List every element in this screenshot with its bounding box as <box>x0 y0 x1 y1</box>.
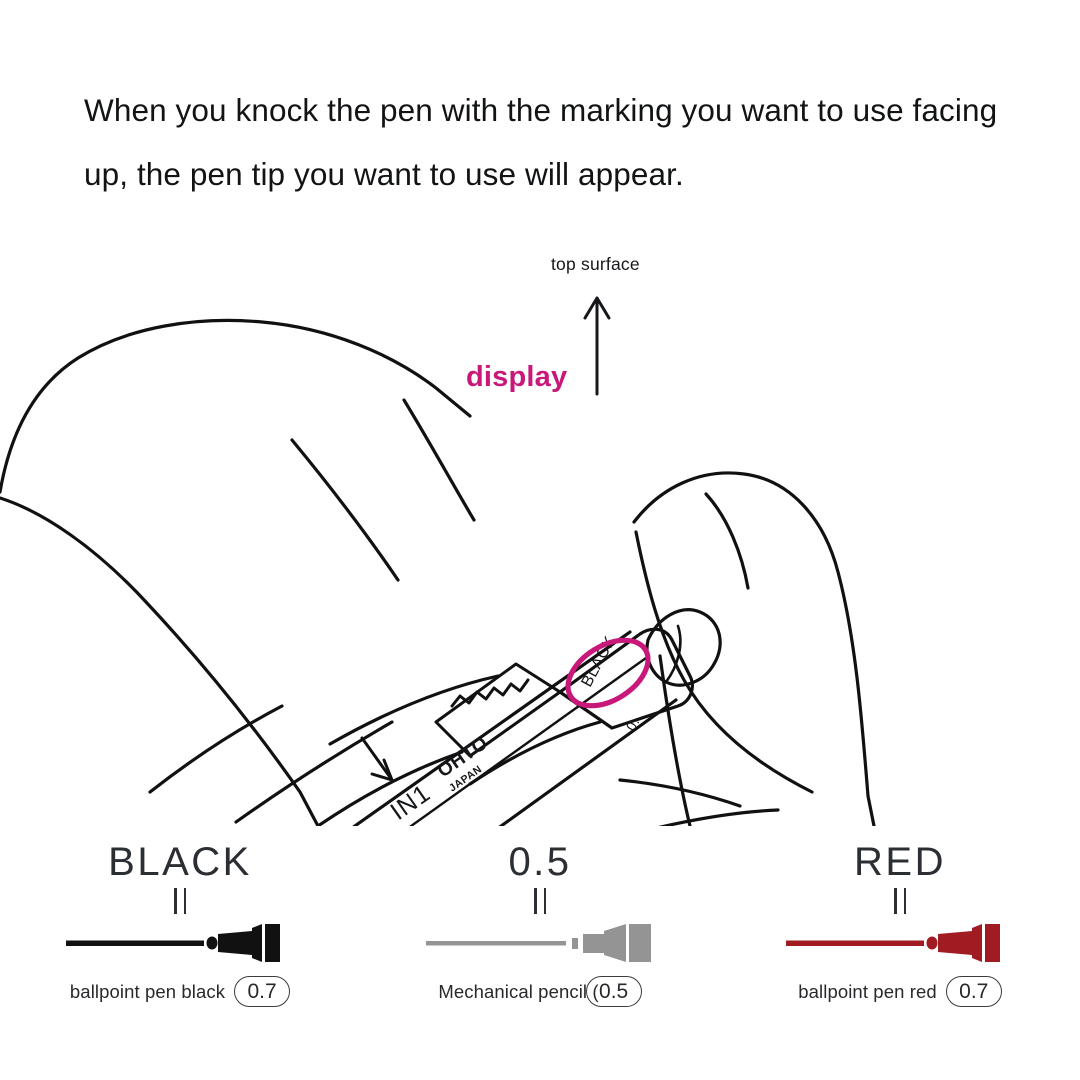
legend-caption-pencil: Mechanical pencil ( 0.5 <box>438 976 641 1007</box>
left-hand-thumb-base <box>330 676 498 744</box>
legend-column-red: RED ballpoint pen red 0.7 <box>720 840 1080 1050</box>
legend-caption-text-pencil: Mechanical pencil ( <box>438 981 598 1003</box>
left-hand-palm-edge <box>0 498 318 826</box>
right-hand-knuckle-crease <box>640 810 778 826</box>
legend-column-black: BLACK ballpoint pen black 0.7 <box>0 840 360 1050</box>
legend-caption-black: ballpoint pen black 0.7 <box>70 976 290 1007</box>
page-title-line-2: up, the pen tip you want to use will app… <box>84 142 1004 206</box>
left-hand-index-finger <box>0 320 470 492</box>
legend-caption-text-red: ballpoint pen red <box>798 981 937 1003</box>
legend-column-pencil: 0.5 Mechanical pencil ( 0.5 <box>360 840 720 1050</box>
product-instruction-page: When you knock the pen with the marking … <box>0 0 1080 1080</box>
legend-size-chip-red: 0.7 <box>946 976 1002 1007</box>
mechanical-pencil-tip-icon <box>426 920 654 966</box>
page-title: When you knock the pen with the marking … <box>84 78 1004 206</box>
legend-size-chip-black: 0.7 <box>234 976 290 1007</box>
hand-holding-pen-illustration: IN1 OHTO JAPAN BLACK 0. <box>0 236 1080 826</box>
legend-caption-red: ballpoint pen red 0.7 <box>798 976 1002 1007</box>
pen-model-marking: IN1 <box>385 779 435 826</box>
equals-sign-black <box>174 886 186 916</box>
legend-size-chip-pencil: 0.5 <box>586 976 642 1007</box>
right-hand-thumb-nail <box>706 494 748 588</box>
display-highlight-ellipse <box>556 627 659 719</box>
equals-sign-red <box>894 886 906 916</box>
legend-title-red: RED <box>854 840 946 884</box>
left-hand-finger-crease-1 <box>292 440 398 580</box>
top-surface-label: top surface <box>551 254 640 275</box>
left-hand-finger-outline-2 <box>404 400 474 520</box>
ballpoint-pen-tip-icon-black <box>66 920 294 966</box>
left-hand-lower-finger <box>150 706 282 792</box>
page-title-line-1: When you knock the pen with the marking … <box>84 78 1004 142</box>
pen-clip-pointer-arrow <box>362 738 392 780</box>
legend-title-pencil: 0.5 <box>508 840 571 884</box>
legend-title-black: BLACK <box>108 840 252 884</box>
equals-sign-pencil <box>534 886 546 916</box>
pen-tip-legend: BLACK ballpoint pen black 0.7 0.5 <box>0 840 1080 1050</box>
legend-caption-text-black: ballpoint pen black <box>70 981 225 1003</box>
display-label: display <box>466 361 567 394</box>
ballpoint-pen-tip-icon-red <box>786 920 1014 966</box>
